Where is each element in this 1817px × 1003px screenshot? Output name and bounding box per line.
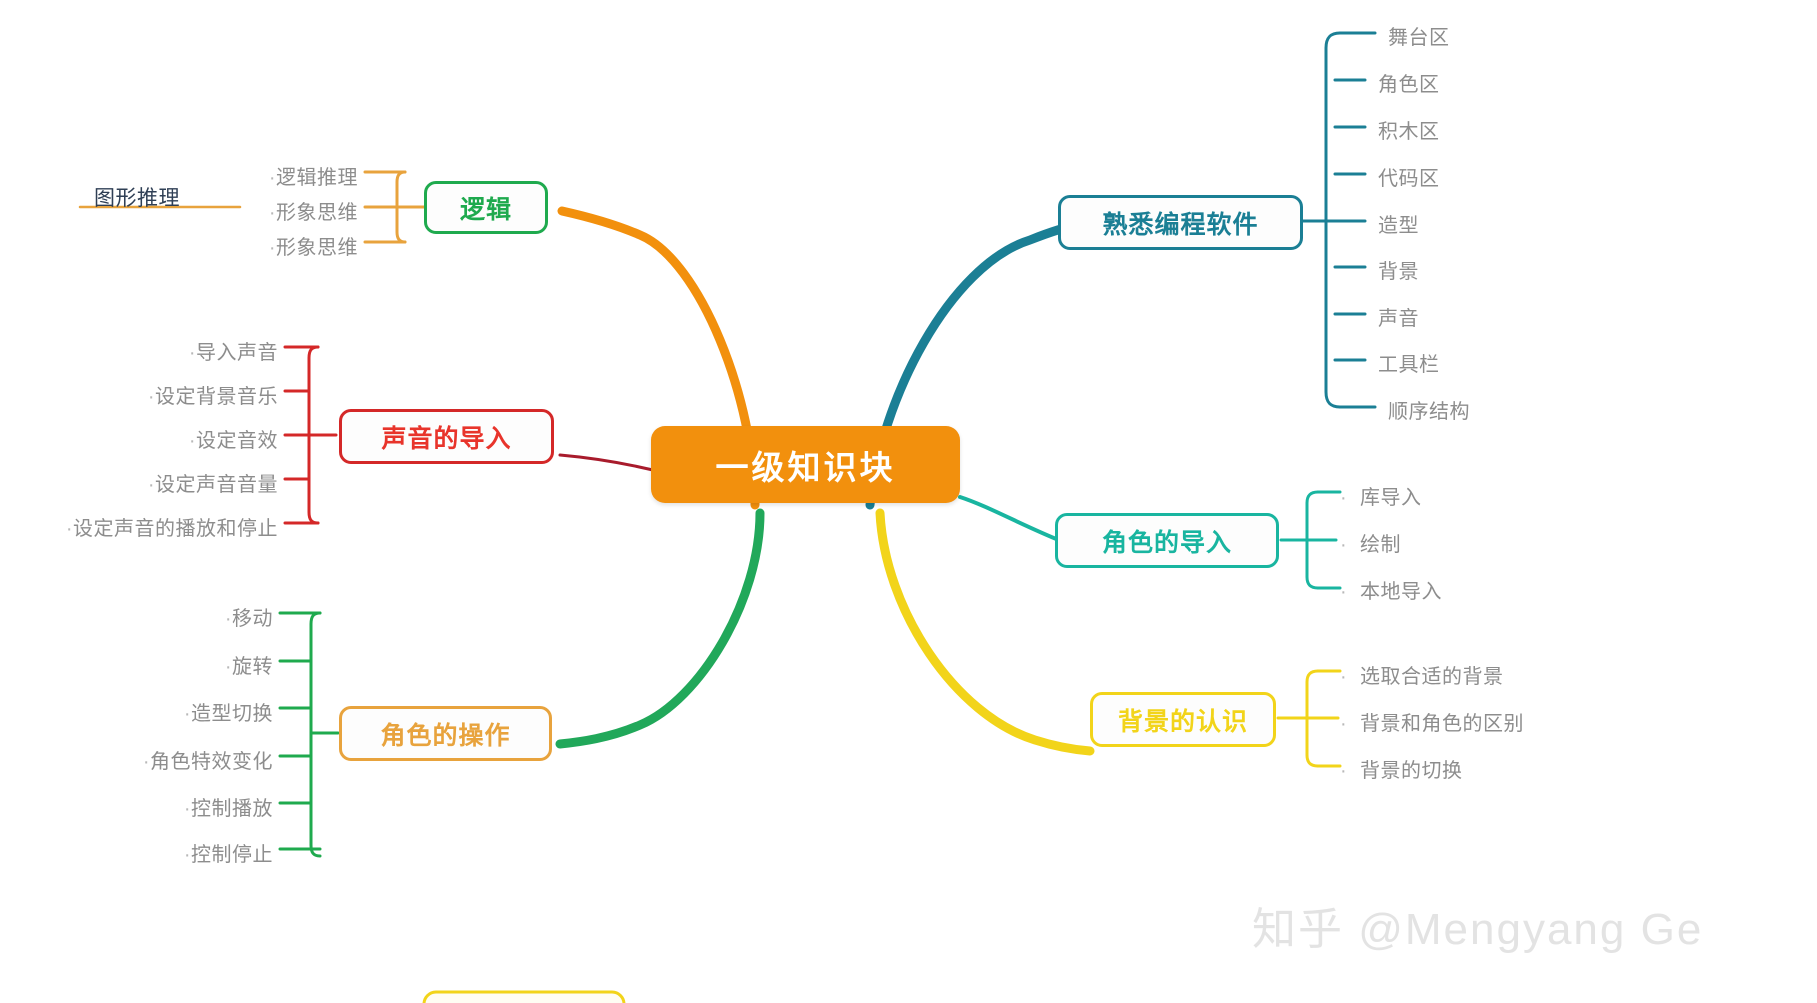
bullet-icon: · [175,703,191,726]
leaf-software-1-label: 角色区 [1378,74,1440,96]
leaf-role-ops-1-label: 旋转 [232,656,273,678]
leaf-sound-1[interactable]: ·设定背景音乐 [0,380,278,409]
leaf-software-3-label: 代码区 [1378,168,1440,190]
leaf-software-2-label: 积木区 [1378,121,1440,143]
leaf-logic-2[interactable]: ·形象思维 [0,231,358,260]
leaf-logic-2-label: 形象思维 [276,237,358,259]
branch-node-programming-software[interactable]: 熟悉编程软件 [1058,195,1303,250]
leaf-role-ops-4-label: 控制播放 [191,798,273,820]
bullet-icon: · [1340,760,1356,783]
root-node[interactable]: 一级知识块 [651,426,960,503]
leaf-role-import-1[interactable]: ·绘制 [1340,528,1401,557]
clipped-node-bottom [424,992,624,1003]
leaf-software-0-label: 舞台区 [1388,27,1450,49]
leaf-sound-0-label: 导入声音 [196,342,278,364]
leaf-background-0[interactable]: ·选取合适的背景 [1340,660,1504,689]
edge-software-spine [1326,33,1340,407]
leaf-software-3[interactable]: 代码区 [1378,162,1440,191]
leaf-software-1[interactable]: 角色区 [1378,68,1440,97]
leaf-software-5-label: 背景 [1378,261,1419,283]
leaf-background-1[interactable]: ·背景和角色的区别 [1340,707,1524,736]
leaf-role-ops-5-label: 控制停止 [191,844,273,866]
leaf-role-import-0-label: 库导入 [1360,487,1422,509]
leaf-software-7-label: 工具栏 [1378,354,1440,376]
bullet-icon: · [139,474,155,497]
leaf-sound-4[interactable]: ·设定声音的播放和停止 [0,512,278,541]
leaf-sound-4-label: 设定声音的播放和停止 [73,518,278,540]
leaf-software-6-label: 声音 [1378,308,1419,330]
leaf-logic-1[interactable]: ·形象思维 [0,196,358,225]
bullet-icon: · [180,430,196,453]
root-node-label: 一级知识块 [716,441,896,489]
branch-node-logic-label: 逻辑 [460,190,512,226]
leaf-software-5[interactable]: 背景 [1378,255,1419,284]
leaf-sound-0[interactable]: ·导入声音 [0,336,278,365]
branch-node-programming-software-label: 熟悉编程软件 [1102,205,1258,241]
leaf-sound-1-label: 设定背景音乐 [155,386,278,408]
leaf-software-4[interactable]: 造型 [1378,209,1419,238]
leaf-software-6[interactable]: 声音 [1378,302,1419,331]
bullet-icon: · [260,202,276,225]
leaf-sound-2-label: 设定音效 [196,430,278,452]
leaf-background-2[interactable]: ·背景的切换 [1340,754,1463,783]
leaf-role-import-2[interactable]: ·本地导入 [1340,575,1442,604]
branch-node-background-knowledge[interactable]: 背景的认识 [1090,692,1276,747]
bullet-icon: · [260,237,276,260]
edge-sound-spine [309,347,318,523]
watermark: 知乎 @Mengyang Ge [1252,893,1703,957]
leaf-sound-2[interactable]: ·设定音效 [0,424,278,453]
edge-background-spine [1307,671,1318,766]
edge-root-to-role-operations [560,513,760,744]
branch-node-background-knowledge-label: 背景的认识 [1118,702,1248,738]
bullet-icon: · [180,342,196,365]
leaf-software-4-label: 造型 [1378,215,1419,237]
bullet-icon: · [1340,581,1356,604]
leaf-role-ops-2-label: 造型切换 [191,703,273,725]
bullet-icon: · [57,518,73,541]
branch-node-role-operations-label: 角色的操作 [380,716,510,752]
leaf-role-ops-3[interactable]: ·角色特效变化 [0,745,273,774]
branch-node-role-operations[interactable]: 角色的操作 [339,706,552,761]
watermark-label: 知乎 @Mengyang Ge [1252,905,1703,954]
leaf-sound-3-label: 设定声音音量 [155,474,278,496]
leaf-role-ops-1[interactable]: ·旋转 [0,650,273,679]
bullet-icon: · [216,608,232,631]
leaf-role-ops-3-label: 角色特效变化 [150,751,273,773]
leaf-role-import-0[interactable]: ·库导入 [1340,481,1422,510]
mindmap-canvas: 一级知识块 逻辑 声音的导入 角色的操作 熟悉编程软件 角色的导入 背景的认识 … [0,0,1817,1003]
branch-node-role-import[interactable]: 角色的导入 [1055,513,1279,568]
leaf-role-ops-2[interactable]: ·造型切换 [0,697,273,726]
bullet-icon: · [1340,666,1356,689]
edge-role-ops-spine [311,613,320,856]
bullet-icon: · [175,844,191,867]
leaf-sound-3[interactable]: ·设定声音音量 [0,468,278,497]
bullet-icon: · [1340,713,1356,736]
leaf-background-0-label: 选取合适的背景 [1360,666,1504,688]
leaf-software-8[interactable]: 顺序结构 [1388,395,1470,424]
leaf-background-1-label: 背景和角色的区别 [1360,713,1524,735]
leaf-logic-0[interactable]: ·逻辑推理 [0,161,358,190]
leaf-logic-0-label: 逻辑推理 [276,167,358,189]
branch-node-sound-import[interactable]: 声音的导入 [339,409,554,464]
leaf-logic-1-label: 形象思维 [276,202,358,224]
leaf-software-2[interactable]: 积木区 [1378,115,1440,144]
leaf-background-2-label: 背景的切换 [1360,760,1463,782]
leaf-software-8-label: 顺序结构 [1388,401,1470,423]
leaf-software-7[interactable]: 工具栏 [1378,348,1440,377]
edge-logic-spine [397,172,405,242]
branch-node-role-import-label: 角色的导入 [1102,523,1232,559]
bullet-icon: · [216,656,232,679]
bullet-icon: · [260,167,276,190]
bullet-icon: · [1340,487,1356,510]
leaf-role-import-2-label: 本地导入 [1360,581,1442,603]
leaf-software-0[interactable]: 舞台区 [1388,21,1450,50]
edge-role-import-spine [1307,492,1318,588]
bullet-icon: · [1340,534,1356,557]
leaf-role-ops-0[interactable]: ·移动 [0,602,273,631]
branch-node-sound-import-label: 声音的导入 [381,419,511,455]
bullet-icon: · [134,751,150,774]
leaf-role-ops-5[interactable]: ·控制停止 [0,838,273,867]
leaf-role-import-1-label: 绘制 [1360,534,1401,556]
branch-node-logic[interactable]: 逻辑 [424,181,548,234]
bullet-icon: · [139,386,155,409]
leaf-role-ops-0-label: 移动 [232,608,273,630]
bullet-icon: · [175,798,191,821]
leaf-role-ops-4[interactable]: ·控制播放 [0,792,273,821]
